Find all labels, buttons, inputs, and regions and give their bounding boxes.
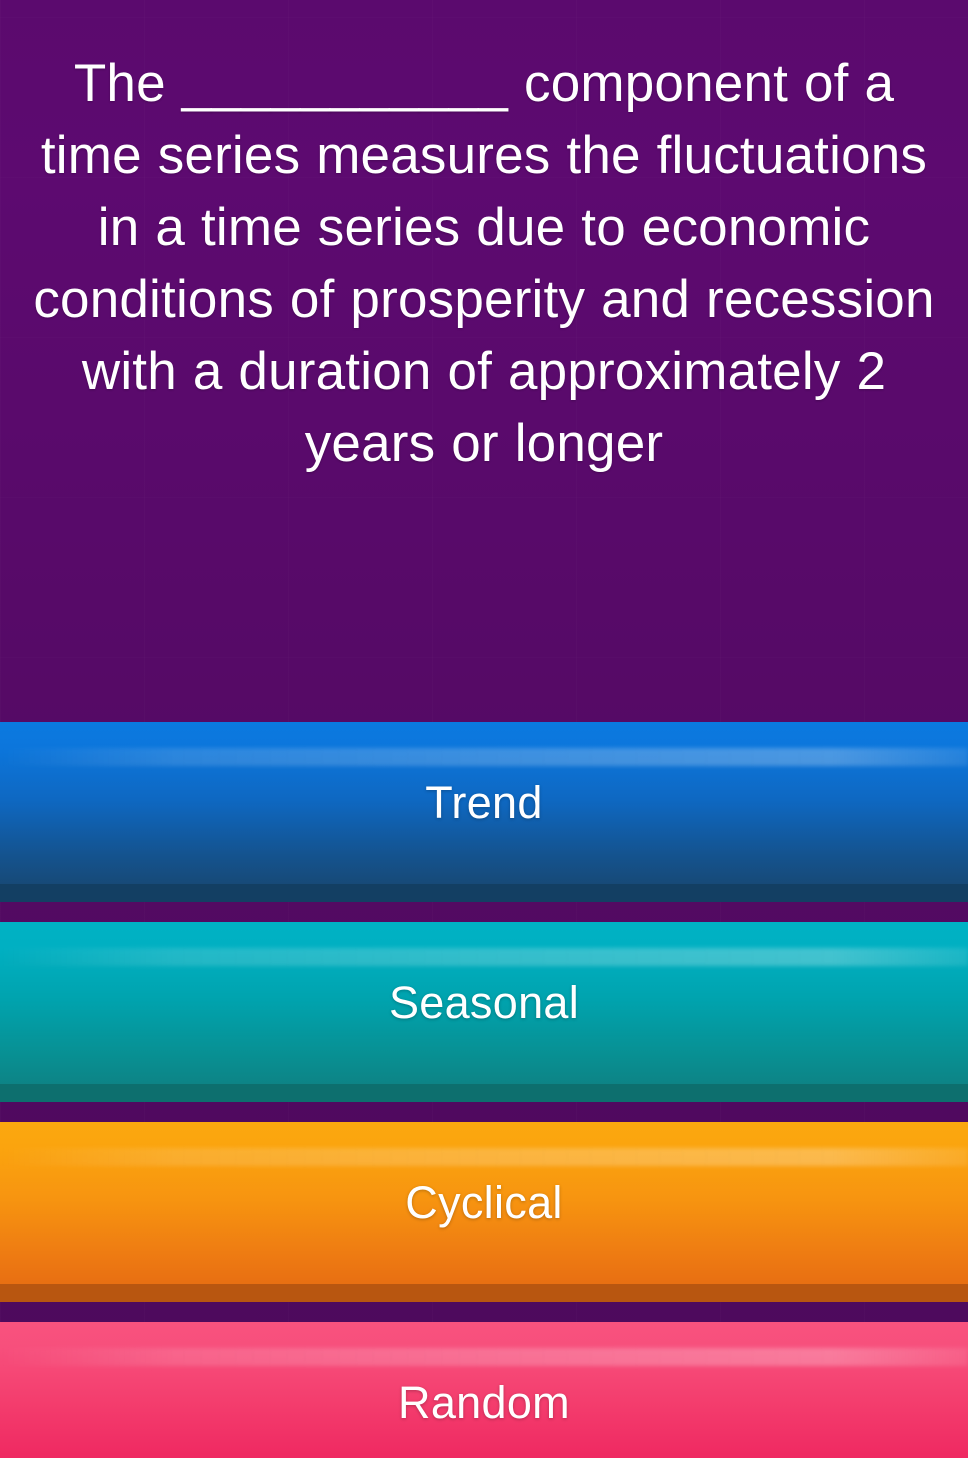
answer-option-seasonal-shadow [0, 1084, 968, 1102]
question-area: The ___________ component of a time seri… [0, 0, 968, 722]
answer-option-cyclical-label: Cyclical [405, 1178, 562, 1228]
answer-option-random[interactable]: Random [0, 1322, 968, 1458]
answer-option-random-face: Random [0, 1322, 968, 1458]
answer-option-cyclical-shadow [0, 1284, 968, 1302]
answer-option-trend[interactable]: Trend [0, 722, 968, 902]
answer-option-seasonal-label: Seasonal [389, 978, 579, 1028]
question-text: The ___________ component of a time seri… [22, 48, 946, 480]
answer-option-random-label: Random [398, 1378, 570, 1428]
answer-option-trend-face: Trend [0, 722, 968, 884]
answer-option-seasonal[interactable]: Seasonal [0, 922, 968, 1102]
answer-option-seasonal-face: Seasonal [0, 922, 968, 1084]
answer-option-cyclical-face: Cyclical [0, 1122, 968, 1284]
quiz-question-screen: The ___________ component of a time seri… [0, 0, 968, 1458]
answer-option-trend-label: Trend [425, 778, 542, 828]
answer-options-list: Trend Seasonal Cyclical Random [0, 722, 968, 1458]
answer-option-trend-shadow [0, 884, 968, 902]
answer-option-cyclical[interactable]: Cyclical [0, 1122, 968, 1302]
